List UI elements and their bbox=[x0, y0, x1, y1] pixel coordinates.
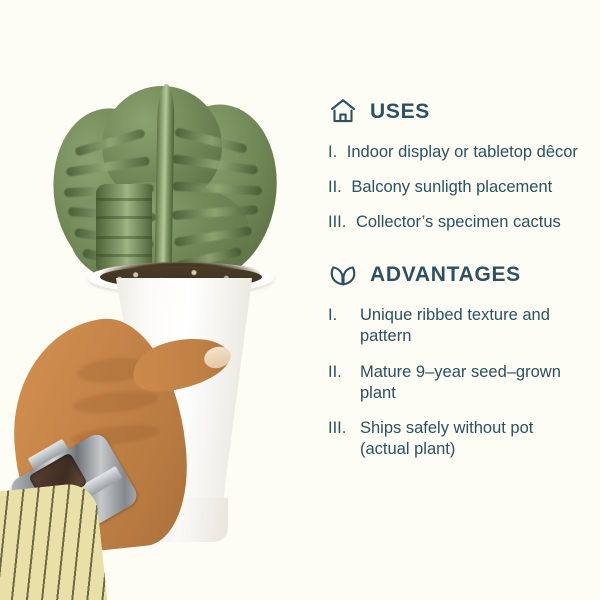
list-item: III. Ships safely without pot (actual pl… bbox=[328, 418, 586, 460]
photo-canvas bbox=[0, 0, 320, 600]
section-uses-header: USES bbox=[328, 96, 586, 126]
list-item-text: Indoor display or tabletop dêcor bbox=[347, 143, 578, 161]
list-item-text: Ships safely without pot (actual plant) bbox=[360, 418, 586, 460]
shirt-sleeve bbox=[0, 481, 108, 600]
uses-list: I. Indoor display or tabletop dêcor II. … bbox=[328, 142, 586, 233]
list-item: I. Indoor display or tabletop dêcor bbox=[328, 142, 586, 163]
leaf-icon bbox=[328, 259, 358, 289]
list-item-text: Balcony sunligth placement bbox=[351, 178, 552, 196]
list-item-number: II. bbox=[328, 178, 342, 196]
list-item: III. Collector’s specimen cactus bbox=[328, 212, 586, 233]
section-uses-title: USES bbox=[370, 101, 430, 122]
section-advantages-title: ADVANTAGES bbox=[370, 264, 521, 285]
list-item-number: III. bbox=[328, 418, 354, 460]
list-item: I. Unique ribbed texture and pattern bbox=[328, 305, 586, 347]
list-item-number: III. bbox=[328, 213, 346, 231]
list-item: II. Balcony sunligth placement bbox=[328, 177, 586, 198]
cactus-stem bbox=[96, 184, 152, 272]
home-icon bbox=[328, 96, 358, 126]
list-item-number: I. bbox=[328, 143, 337, 161]
list-item-number: I. bbox=[328, 305, 354, 347]
advantages-list: I. Unique ribbed texture and pattern II.… bbox=[328, 305, 586, 460]
list-item-text: Collector’s specimen cactus bbox=[356, 213, 561, 231]
product-photo bbox=[0, 0, 320, 600]
section-advantages-header: ADVANTAGES bbox=[328, 259, 586, 289]
section-advantages: ADVANTAGES I. Unique ribbed texture and … bbox=[328, 259, 586, 460]
list-item-text: Unique ribbed texture and pattern bbox=[360, 305, 586, 347]
feature-panel: USES I. Indoor display or tabletop dêcor… bbox=[320, 0, 600, 600]
list-item-text: Mature 9–year seed–grown plant bbox=[360, 362, 586, 404]
list-item: II. Mature 9–year seed–grown plant bbox=[328, 362, 586, 404]
product-infographic: USES I. Indoor display or tabletop dêcor… bbox=[0, 0, 600, 600]
section-uses: USES I. Indoor display or tabletop dêcor… bbox=[328, 96, 586, 233]
list-item-number: II. bbox=[328, 362, 354, 404]
